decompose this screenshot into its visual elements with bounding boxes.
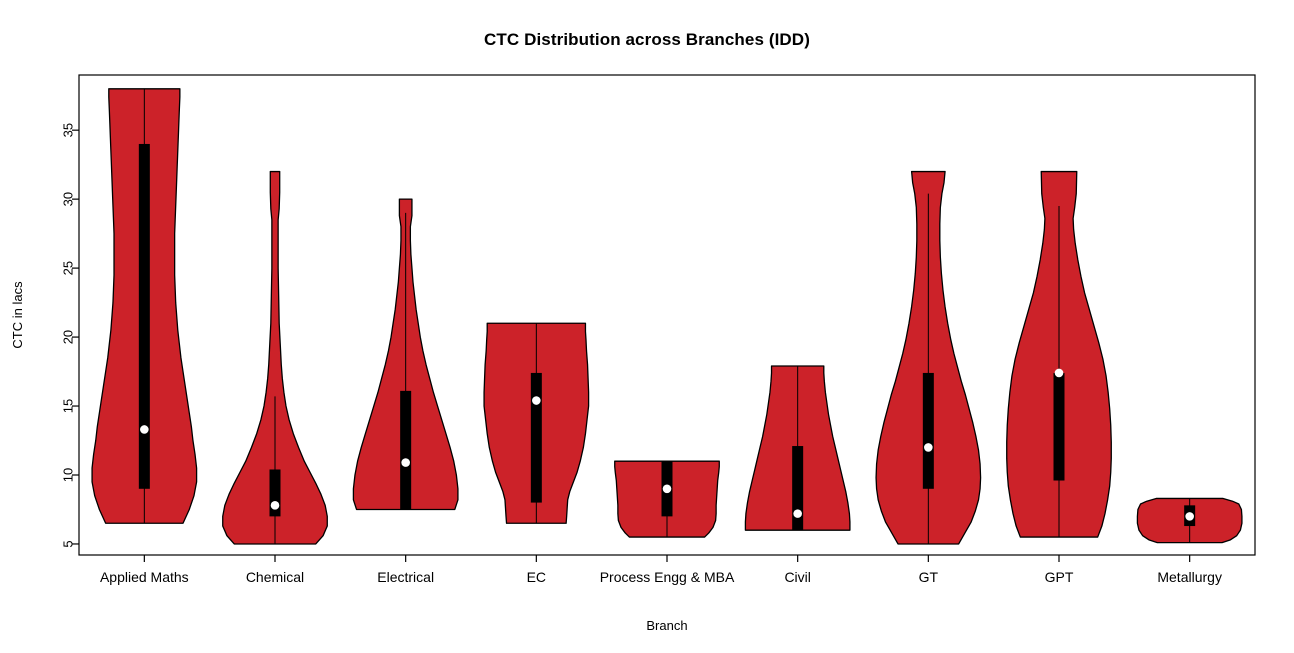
y-tick-label: 5 [61,540,76,547]
y-tick-label: 15 [61,399,76,413]
x-tick-label-7: GT [919,569,939,585]
iqr-box-8 [1054,373,1065,481]
x-tick-label-2: Chemical [246,569,304,585]
median-point-2[interactable] [271,501,280,510]
chart-canvas: CTC Distribution across Branches (IDD) 5… [0,0,1294,653]
y-tick-label: 35 [61,123,76,137]
median-point-5[interactable] [663,484,672,493]
x-axis-title: Branch [646,618,687,633]
x-tick-label-4: EC [527,569,546,585]
median-point-7[interactable] [924,443,933,452]
x-tick-label-3: Electrical [377,569,434,585]
median-point-6[interactable] [793,509,802,518]
iqr-box-3 [400,391,411,510]
iqr-box-7 [923,373,934,489]
y-tick-label: 25 [61,261,76,275]
x-tick-label-6: Civil [784,569,810,585]
violin-plot: 5101520253035CTC in lacsApplied MathsChe… [0,0,1294,653]
median-point-8[interactable] [1055,369,1064,378]
median-point-3[interactable] [401,458,410,467]
y-axis-title: CTC in lacs [10,281,25,349]
median-point-9[interactable] [1185,512,1194,521]
y-tick-label: 10 [61,468,76,482]
x-tick-label-5: Process Engg & MBA [600,569,735,585]
x-tick-label-1: Applied Maths [100,569,189,585]
x-tick-label-8: GPT [1045,569,1074,585]
y-tick-label: 30 [61,192,76,206]
median-point-4[interactable] [532,396,541,405]
y-tick-label: 20 [61,330,76,344]
iqr-box-1 [139,144,150,489]
x-tick-label-9: Metallurgy [1157,569,1222,585]
iqr-box-4 [531,373,542,503]
median-point-1[interactable] [140,425,149,434]
